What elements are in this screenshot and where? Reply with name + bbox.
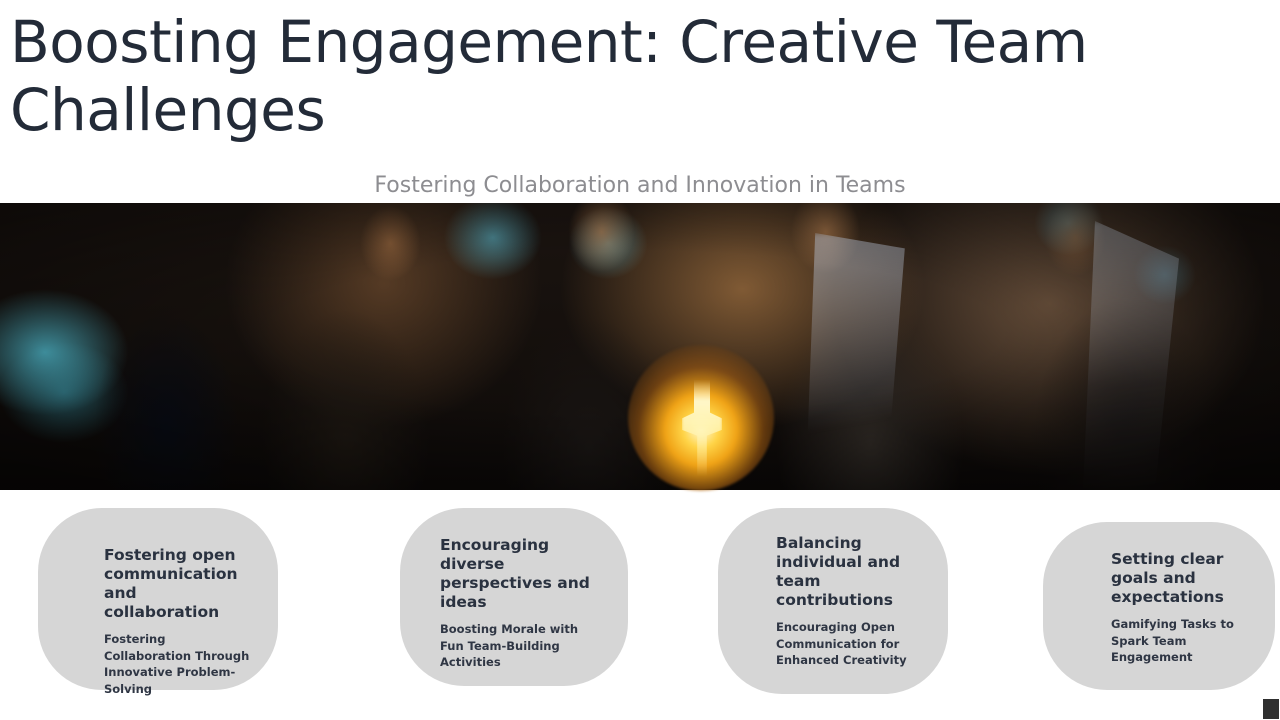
cards-row: Fostering open communication and collabo… [0,490,1280,720]
card-1[interactable]: Fostering open communication and collabo… [38,508,278,690]
card-1-subtitle: Fostering Collaboration Through Innovati… [104,631,254,697]
card-3[interactable]: Balancing individual and team contributi… [718,508,948,694]
card-2-title: Encouraging diverse perspectives and ide… [440,536,590,612]
card-2-subtitle: Boosting Morale with Fun Team-Building A… [440,621,590,671]
slide-root: Boosting Engagement: Creative Team Chall… [0,0,1280,720]
card-4-text: Setting clear goals and expectations Gam… [1111,550,1261,666]
card-4[interactable]: Setting clear goals and expectations Gam… [1043,522,1275,690]
card-1-text: Fostering open communication and collabo… [104,546,254,697]
page-subtitle: Fostering Collaboration and Innovation i… [0,172,1280,200]
card-2[interactable]: Encouraging diverse perspectives and ide… [400,508,628,686]
card-3-subtitle: Encouraging Open Communication for Enhan… [776,619,926,669]
page-title: Boosting Engagement: Creative Team Chall… [10,8,1270,144]
corner-marker [1263,699,1279,719]
card-4-title: Setting clear goals and expectations [1111,550,1261,607]
card-4-subtitle: Gamifying Tasks to Spark Team Engagement [1111,616,1261,666]
card-1-title: Fostering open communication and collabo… [104,546,254,622]
card-2-text: Encouraging diverse perspectives and ide… [440,536,590,671]
card-3-title: Balancing individual and team contributi… [776,534,926,610]
card-3-text: Balancing individual and team contributi… [776,534,926,669]
slide-header: Boosting Engagement: Creative Team Chall… [0,0,1280,203]
